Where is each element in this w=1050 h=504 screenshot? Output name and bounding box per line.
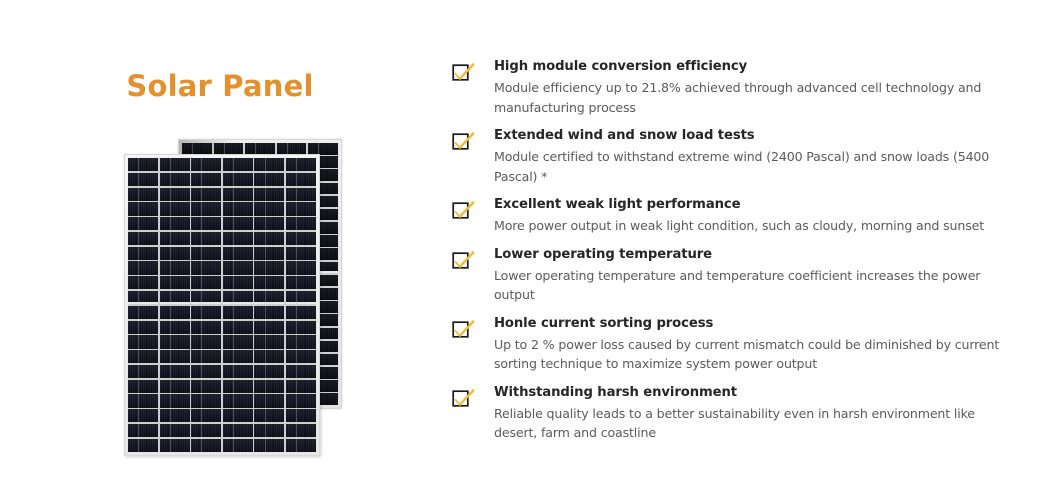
solar-cell — [160, 232, 190, 245]
solar-cell — [223, 217, 253, 230]
solar-cell — [191, 409, 221, 422]
solar-cell — [182, 143, 212, 155]
solar-cell — [191, 232, 221, 245]
feature-description: Module certified to withstand extreme wi… — [494, 147, 1012, 186]
solar-cell — [286, 217, 316, 230]
feature-description: Module efficiency up to 21.8% achieved t… — [494, 78, 1012, 117]
solar-cell — [191, 188, 221, 201]
solar-cell — [128, 202, 158, 215]
solar-cell — [286, 232, 316, 245]
solar-cell — [191, 321, 221, 334]
solar-cell — [223, 380, 253, 393]
solar-cell — [286, 350, 316, 363]
solar-cell — [286, 247, 316, 260]
feature-list: High module conversion efficiency Module… — [452, 58, 1012, 443]
solar-cell — [191, 439, 221, 452]
solar-cell — [128, 380, 158, 393]
solar-cell — [223, 424, 253, 437]
checkbox-check-icon — [452, 130, 476, 152]
solar-cell — [160, 173, 190, 186]
solar-cell — [128, 394, 158, 407]
solar-cell — [286, 276, 316, 289]
solar-cell — [286, 335, 316, 348]
feature-description: Lower operating temperature and temperat… — [494, 266, 1012, 305]
solar-cell — [254, 202, 284, 215]
feature-text: Extended wind and snow load tests Module… — [476, 127, 1012, 186]
solar-cell — [191, 173, 221, 186]
solar-cell — [160, 306, 190, 319]
solar-cell — [191, 424, 221, 437]
solar-cell — [160, 350, 190, 363]
solar-cell — [286, 409, 316, 422]
feature-text: Honle current sorting process Up to 2 % … — [476, 315, 1012, 374]
feature-item: Extended wind and snow load tests Module… — [452, 127, 1012, 186]
solar-cell — [286, 173, 316, 186]
solar-cell — [286, 188, 316, 201]
solar-cell — [128, 158, 158, 171]
solar-cell — [223, 321, 253, 334]
solar-cell — [254, 158, 284, 171]
feature-text: Withstanding harsh environment Reliable … — [476, 384, 1012, 443]
feature-text: Excellent weak light performance More po… — [476, 196, 1012, 236]
product-image-solar-panels — [110, 130, 360, 470]
solar-cell — [223, 409, 253, 422]
solar-cell — [191, 306, 221, 319]
solar-cell — [254, 173, 284, 186]
solar-cell — [160, 291, 190, 304]
solar-cell — [223, 202, 253, 215]
solar-cell — [191, 158, 221, 171]
feature-text: Lower operating temperature Lower operat… — [476, 246, 1012, 305]
solar-cell — [160, 409, 190, 422]
feature-text: High module conversion efficiency Module… — [476, 58, 1012, 117]
feature-description: Reliable quality leads to a better susta… — [494, 404, 1012, 443]
checkbox-check-icon — [452, 199, 476, 221]
solar-cell — [286, 306, 316, 319]
solar-cell — [128, 247, 158, 260]
solar-cell — [286, 321, 316, 334]
solar-cell — [128, 217, 158, 230]
solar-cell — [160, 424, 190, 437]
solar-panel-front — [124, 154, 320, 456]
solar-cell — [160, 217, 190, 230]
solar-cell — [160, 202, 190, 215]
solar-cell — [160, 276, 190, 289]
solar-cell — [277, 143, 307, 155]
solar-cell — [191, 202, 221, 215]
feature-description: Up to 2 % power loss caused by current m… — [494, 335, 1012, 374]
left-column: Solar Panel — [0, 0, 440, 504]
solar-cell — [191, 217, 221, 230]
solar-cell — [160, 321, 190, 334]
solar-cell — [254, 232, 284, 245]
solar-cell — [160, 261, 190, 274]
solar-cell — [160, 335, 190, 348]
solar-cell — [254, 276, 284, 289]
solar-cell — [223, 394, 253, 407]
solar-cell — [223, 276, 253, 289]
solar-cell — [223, 439, 253, 452]
solar-cell — [223, 365, 253, 378]
solar-cell — [286, 365, 316, 378]
solar-cell — [223, 232, 253, 245]
solar-cell — [214, 143, 244, 155]
solar-cell — [128, 424, 158, 437]
solar-cell — [286, 158, 316, 171]
solar-cell — [191, 380, 221, 393]
solar-cell — [254, 394, 284, 407]
solar-cell — [254, 439, 284, 452]
solar-cell — [191, 335, 221, 348]
solar-cell — [254, 217, 284, 230]
solar-cell — [254, 188, 284, 201]
solar-cell — [223, 173, 253, 186]
solar-cell — [286, 261, 316, 274]
solar-cell — [245, 143, 275, 155]
solar-cell — [191, 291, 221, 304]
solar-cell — [128, 173, 158, 186]
solar-cell — [254, 424, 284, 437]
solar-cell-grid-front — [128, 158, 316, 452]
feature-item: Excellent weak light performance More po… — [452, 196, 1012, 236]
solar-cell — [128, 306, 158, 319]
solar-cell — [191, 276, 221, 289]
solar-cell — [128, 291, 158, 304]
feature-heading: Lower operating temperature — [494, 246, 1012, 263]
solar-cell — [128, 261, 158, 274]
feature-item: Lower operating temperature Lower operat… — [452, 246, 1012, 305]
solar-cell — [160, 394, 190, 407]
solar-cell — [160, 439, 190, 452]
solar-cell — [128, 350, 158, 363]
page-title: Solar Panel — [0, 69, 440, 103]
solar-cell — [128, 188, 158, 201]
solar-cell — [223, 335, 253, 348]
solar-cell — [223, 188, 253, 201]
solar-cell — [223, 261, 253, 274]
solar-cell — [308, 143, 338, 155]
feature-heading: Excellent weak light performance — [494, 196, 1012, 213]
solar-cell — [191, 365, 221, 378]
solar-cell — [286, 439, 316, 452]
solar-cell — [191, 261, 221, 274]
solar-cell — [128, 409, 158, 422]
solar-cell — [160, 380, 190, 393]
solar-cell — [160, 188, 190, 201]
solar-cell — [223, 350, 253, 363]
solar-cell — [254, 321, 284, 334]
solar-cell — [254, 247, 284, 260]
solar-cell — [286, 202, 316, 215]
solar-cell — [191, 394, 221, 407]
feature-description: More power output in weak light conditio… — [494, 216, 1012, 236]
solar-cell — [160, 365, 190, 378]
solar-cell — [128, 365, 158, 378]
solar-cell — [160, 158, 190, 171]
solar-cell — [286, 291, 316, 304]
checkbox-check-icon — [452, 61, 476, 83]
feature-heading: Withstanding harsh environment — [494, 384, 1012, 401]
solar-cell — [254, 380, 284, 393]
checkbox-check-icon — [452, 318, 476, 340]
solar-cell — [128, 276, 158, 289]
feature-item: Honle current sorting process Up to 2 % … — [452, 315, 1012, 374]
solar-cell — [254, 365, 284, 378]
solar-cell — [191, 247, 221, 260]
solar-cell — [286, 424, 316, 437]
feature-heading: Extended wind and snow load tests — [494, 127, 1012, 144]
solar-cell — [286, 394, 316, 407]
solar-cell — [254, 409, 284, 422]
solar-cell — [223, 247, 253, 260]
solar-cell — [128, 439, 158, 452]
solar-cell — [191, 350, 221, 363]
checkbox-check-icon — [452, 249, 476, 271]
solar-cell — [223, 158, 253, 171]
feature-item: High module conversion efficiency Module… — [452, 58, 1012, 117]
feature-heading: High module conversion efficiency — [494, 58, 1012, 75]
solar-cell — [160, 247, 190, 260]
solar-cell — [286, 380, 316, 393]
feature-heading: Honle current sorting process — [494, 315, 1012, 332]
checkbox-check-icon — [452, 387, 476, 409]
solar-cell — [254, 261, 284, 274]
solar-cell — [223, 291, 253, 304]
solar-cell — [223, 306, 253, 319]
feature-item: Withstanding harsh environment Reliable … — [452, 384, 1012, 443]
solar-cell — [128, 232, 158, 245]
solar-cell — [254, 335, 284, 348]
solar-cell — [128, 335, 158, 348]
solar-cell — [128, 321, 158, 334]
solar-cell — [254, 350, 284, 363]
solar-cell — [254, 306, 284, 319]
solar-cell — [254, 291, 284, 304]
